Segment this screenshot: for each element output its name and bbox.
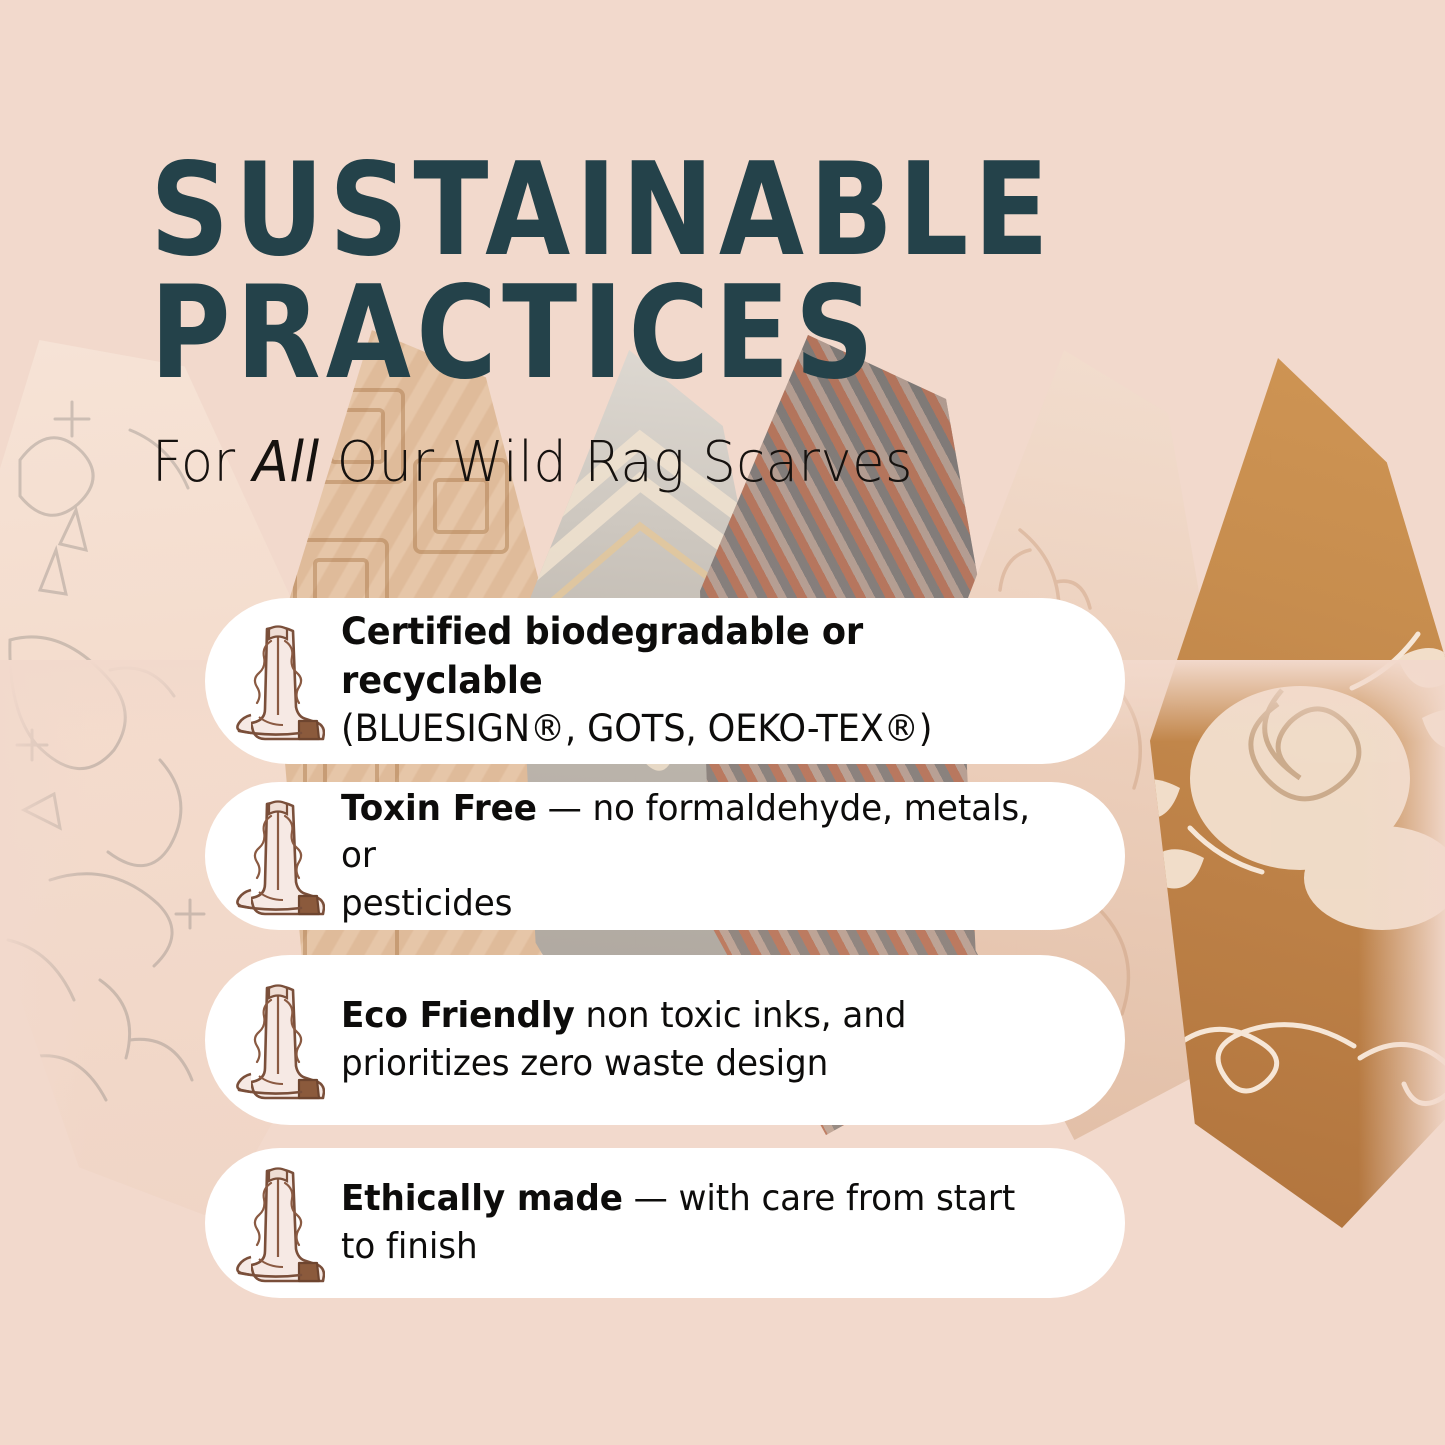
feature-subline: pesticides	[341, 883, 512, 924]
scarf-print-rose	[1150, 358, 1445, 1228]
feature-card-ethically-made: Ethically made — with care from start to…	[205, 1148, 1125, 1298]
feature-subline: to finish	[341, 1226, 478, 1267]
feature-card-text: Ethically made — with care from start to…	[341, 1175, 1015, 1270]
feature-card-text: Toxin Free — no formaldehyde, metals, or…	[341, 785, 1048, 928]
feature-subline: (BLUESIGN®, GOTS, OEKO-TEX®)	[341, 707, 932, 750]
feature-card-text: Certified biodegradable or recyclable (B…	[341, 608, 1048, 754]
page-title: SUSTAINABLE PRACTICES	[150, 150, 1139, 396]
feature-card-eco-friendly: Eco Friendly non toxic inks, and priorit…	[205, 955, 1125, 1125]
feature-headline: Toxin Free — no formaldehyde, metals, or	[341, 788, 1030, 877]
feature-headline: Certified biodegradable or recyclable	[341, 610, 863, 702]
feature-headline: Ethically made — with care from start	[341, 1178, 1015, 1219]
cowboy-boot-icon	[229, 621, 325, 741]
feature-headline-bold: Ethically made	[341, 1178, 623, 1219]
subtitle-emphasis: All	[253, 430, 320, 495]
feature-card-text: Eco Friendly non toxic inks, and priorit…	[341, 992, 906, 1087]
feature-headline-rest: non toxic inks, and	[575, 995, 907, 1036]
feature-subline: prioritizes zero waste design	[341, 1043, 828, 1084]
feature-headline: Eco Friendly non toxic inks, and	[341, 995, 906, 1036]
feature-card-certified: Certified biodegradable or recyclable (B…	[205, 598, 1125, 764]
feature-headline-bold: Eco Friendly	[341, 995, 575, 1036]
poster-canvas: SUSTAINABLE PRACTICES For All Our Wild R…	[0, 0, 1445, 1445]
feature-card-toxin-free: Toxin Free — no formaldehyde, metals, or…	[205, 782, 1125, 930]
cowboy-boot-icon	[229, 796, 325, 916]
feature-headline-rest: — with care from start	[623, 1178, 1015, 1219]
cowboy-boot-icon	[229, 980, 325, 1100]
feature-headline-bold: Certified biodegradable or recyclable	[341, 610, 863, 702]
feature-headline-bold: Toxin Free	[341, 788, 537, 829]
subtitle-part-after: Our Wild Rag Scarves	[320, 430, 913, 495]
subtitle-part-before: For	[152, 430, 253, 495]
cowboy-boot-icon	[229, 1163, 325, 1283]
page-subtitle: For All Our Wild Rag Scarves	[152, 430, 1186, 495]
